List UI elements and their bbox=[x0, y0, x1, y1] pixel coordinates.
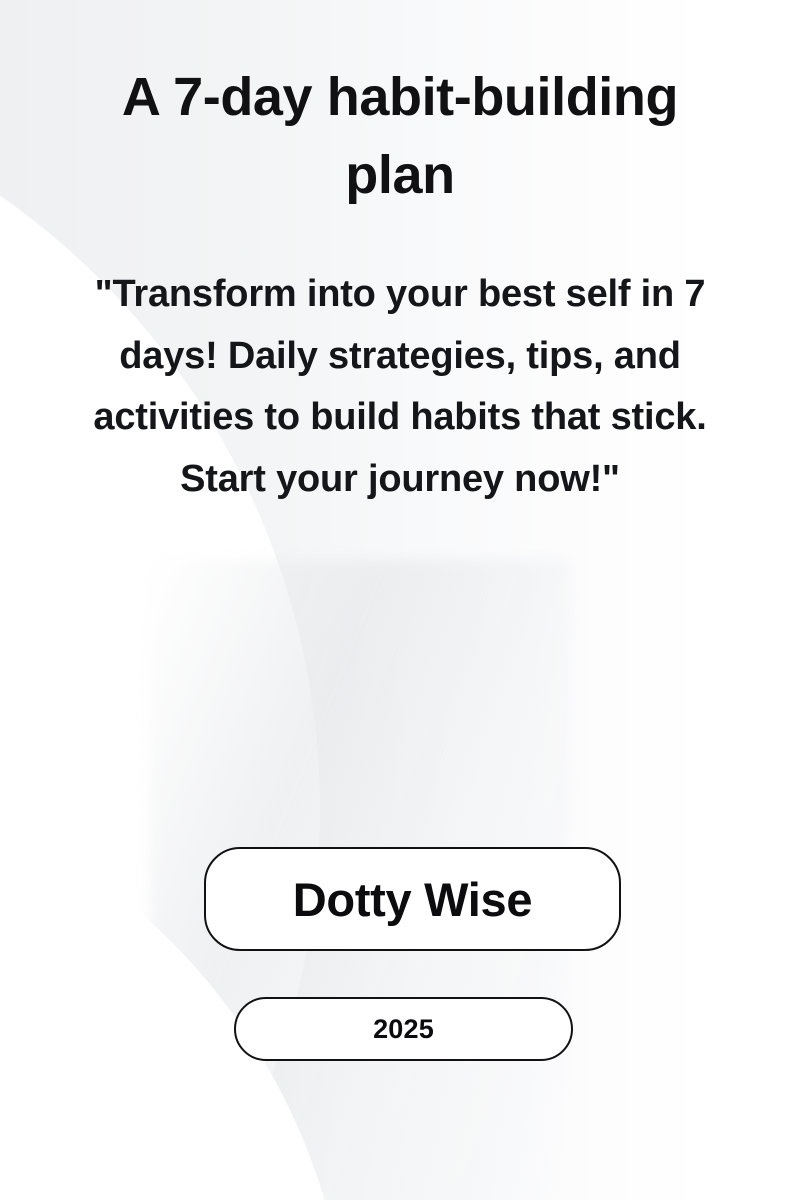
book-cover: A 7-day habit-building plan "Transform i… bbox=[0, 0, 800, 1200]
cover-title: A 7-day habit-building plan bbox=[64, 58, 736, 215]
year-text: 2025 bbox=[373, 1014, 434, 1045]
cover-content: A 7-day habit-building plan "Transform i… bbox=[0, 0, 800, 1200]
cover-subtitle: "Transform into your best self in 7 days… bbox=[58, 264, 742, 510]
author-name: Dotty Wise bbox=[293, 872, 532, 927]
author-badge: Dotty Wise bbox=[204, 847, 621, 951]
year-badge: 2025 bbox=[234, 997, 573, 1061]
